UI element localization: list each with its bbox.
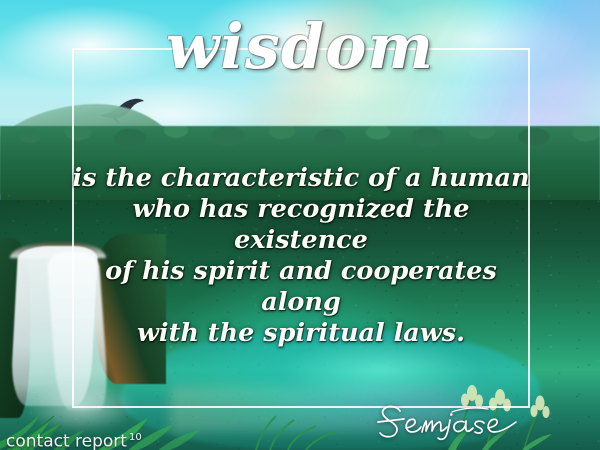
contact-report-caption: contact report10: [6, 428, 142, 450]
caption-number: 10: [129, 432, 142, 443]
caption-label: contact report: [6, 432, 127, 450]
signature-semjase: [366, 402, 526, 442]
quote-card: wisdom is the characteristic of a human …: [0, 0, 600, 450]
quote-text: is the characteristic of a human who has…: [70, 163, 532, 349]
page-title: wisdom: [0, 16, 600, 78]
